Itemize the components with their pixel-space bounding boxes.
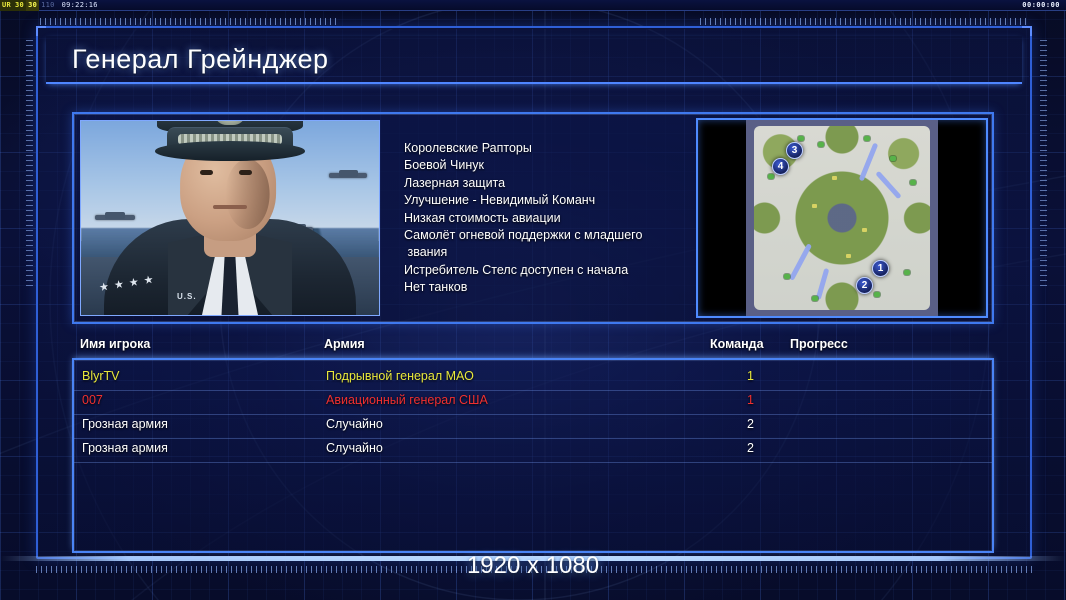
status-seg-fps-alt: 30 xyxy=(26,0,39,11)
page-title: Генерал Грейнджер xyxy=(72,44,329,75)
general-abilities-list: Королевские Рапторы Боевой Чинук Лазерна… xyxy=(380,114,696,322)
us-collar-insignia: U.S. xyxy=(177,292,197,301)
frame-corner-tl xyxy=(36,26,46,36)
player-name: 007 xyxy=(82,393,103,407)
star-icon-2: ★ xyxy=(113,279,124,290)
minimap-tree xyxy=(784,274,790,279)
minimap-terrain xyxy=(754,126,930,310)
minimap-tree xyxy=(874,292,880,297)
ruler-top-right xyxy=(700,18,1030,25)
player-team[interactable]: 2 xyxy=(732,441,754,455)
table-row[interactable]: 007 Авиационный генерал США 1 xyxy=(74,390,992,414)
status-clock: 09:22:16 xyxy=(60,0,100,11)
minimap-supply xyxy=(862,228,867,232)
player-army[interactable]: Случайно xyxy=(326,441,383,455)
column-header-name: Имя игрока xyxy=(80,337,150,351)
general-portrait: ★ ★ ★ ★ U.S. xyxy=(80,120,380,316)
aircraft-icon-1 xyxy=(95,215,135,220)
minimap-supply xyxy=(812,204,817,208)
minimap-tree xyxy=(768,174,774,179)
player-team[interactable]: 1 xyxy=(732,393,754,407)
minimap-supply xyxy=(846,254,851,258)
column-header-team: Команда xyxy=(710,337,764,351)
player-table: BlyrTV Подрывной генерал МАО 1 007 Авиац… xyxy=(72,358,994,553)
player-army[interactable]: Подрывной генерал МАО xyxy=(326,369,474,383)
top-status-bar: UR 30 30 110 09:22:16 00:00:00 xyxy=(0,0,1066,11)
ruler-left xyxy=(26,40,33,290)
player-name: BlyrTV xyxy=(82,369,120,383)
minimap-tree xyxy=(798,136,804,141)
row-divider xyxy=(74,462,992,463)
status-seg-ping: 110 xyxy=(39,0,57,11)
status-seg-ur: UR xyxy=(0,0,13,11)
resolution-label: 1920 x 1080 xyxy=(0,552,1066,580)
star-icon-4: ★ xyxy=(143,275,154,286)
minimap-supply xyxy=(832,176,837,180)
portrait-eye-left xyxy=(200,170,213,175)
player-name: Грозная армия xyxy=(82,417,168,431)
general-info-panel: ★ ★ ★ ★ U.S. Королевские Рапторы Боевой … xyxy=(72,112,994,324)
portrait-eye-right xyxy=(239,170,252,175)
star-icon-3: ★ xyxy=(128,277,139,288)
aircraft-icon-2 xyxy=(329,173,367,178)
ability-item-4: Низкая стоимость авиации xyxy=(404,210,696,227)
player-table-header: Имя игрока Армия Команда Прогресс xyxy=(72,337,994,357)
player-progress-bar xyxy=(792,395,987,408)
minimap-start-position-3[interactable]: 3 xyxy=(786,142,803,159)
ruler-top-left xyxy=(40,18,340,25)
player-progress-bar xyxy=(792,371,987,384)
minimap-tree xyxy=(818,142,824,147)
minimap-start-position-1[interactable]: 1 xyxy=(872,260,889,277)
minimap-start-position-2[interactable]: 2 xyxy=(856,277,873,294)
ability-item-3: Улучшение - Невидимый Команч xyxy=(404,192,696,209)
player-army[interactable]: Авиационный генерал США xyxy=(326,393,488,407)
star-icon-1: ★ xyxy=(99,282,110,293)
minimap-tree xyxy=(812,296,818,301)
column-header-army: Армия xyxy=(324,337,365,351)
ruler-right xyxy=(1040,40,1047,290)
minimap-tree xyxy=(864,136,870,141)
minimap-preview[interactable]: 3 4 1 2 xyxy=(696,118,988,318)
player-army[interactable]: Случайно xyxy=(326,417,383,431)
status-timer: 00:00:00 xyxy=(1022,0,1060,11)
status-seg-fps: 30 xyxy=(13,0,26,11)
frame-corner-tr xyxy=(1022,26,1032,36)
ability-item-8: Нет танков xyxy=(404,279,696,296)
game-lobby-screen: UR 30 30 110 09:22:16 00:00:00 Генерал Г… xyxy=(0,0,1066,600)
minimap-tree xyxy=(910,180,916,185)
player-team[interactable]: 1 xyxy=(732,369,754,383)
ability-item-6: звания xyxy=(404,244,696,261)
table-row[interactable]: BlyrTV Подрывной генерал МАО 1 xyxy=(74,366,992,390)
ability-item-7: Истребитель Стелс доступен с начала xyxy=(404,262,696,279)
table-row[interactable]: Грозная армия Случайно 2 xyxy=(74,414,992,438)
ability-item-1: Боевой Чинук xyxy=(404,157,696,174)
ability-item-5: Самолёт огневой поддержки с младшего xyxy=(404,227,696,244)
player-name: Грозная армия xyxy=(82,441,168,455)
minimap-start-position-4[interactable]: 4 xyxy=(772,158,789,175)
ability-item-0: Королевские Рапторы xyxy=(404,140,696,157)
cap-brim xyxy=(155,141,305,161)
player-team[interactable]: 2 xyxy=(732,417,754,431)
minimap-tree xyxy=(904,270,910,275)
column-header-progress: Прогресс xyxy=(790,337,848,351)
ability-item-2: Лазерная защита xyxy=(404,175,696,192)
minimap-canvas: 3 4 1 2 xyxy=(746,120,938,316)
portrait-mouth xyxy=(213,205,247,209)
table-row[interactable]: Грозная армия Случайно 2 xyxy=(74,438,992,462)
minimap-tree xyxy=(890,156,896,161)
